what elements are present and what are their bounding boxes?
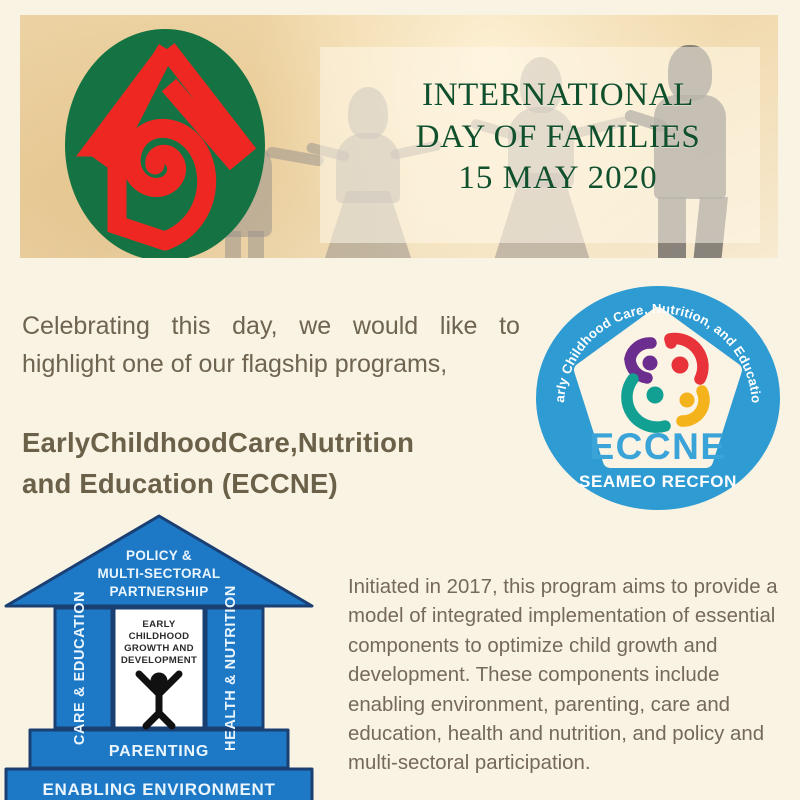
banner-heading-line-3: 15 MAY 2020 [378,158,738,200]
svg-text:GROWTH AND: GROWTH AND [124,643,194,654]
intro-paragraph: Celebratingthisday,wewouldliketo highlig… [22,308,520,383]
house-left-pillar-label: CARE & EDUCATION [72,591,88,745]
program-title-line-1: EarlyChildhoodCare,Nutrition [22,423,527,464]
banner-heading-line-2: DAY OF FAMILIES [378,117,738,159]
eccne-badge: Early Childhood Care, Nutrition, and Edu… [530,281,786,511]
svg-text:EARLY: EARLY [142,619,175,630]
intro-line-2: highlight one of our flagship programs, [22,346,520,384]
svg-text:POLICY &: POLICY & [126,548,192,563]
svg-text:CHILDHOOD: CHILDHOOD [129,631,190,642]
badge-organization: SEAMEO RECFON [579,472,737,491]
svg-text:MULTI-SECTORAL: MULTI-SECTORAL [98,566,221,581]
program-title: EarlyChildhoodCare,Nutrition and Educati… [22,423,527,504]
svg-text:PARTNERSHIP: PARTNERSHIP [109,584,208,599]
program-description: Initiated in 2017, this program aims to … [348,573,788,779]
header-banner: INTERNATIONAL DAY OF FAMILIES 15 MAY 202… [20,15,778,258]
house-step-base-label: ENABLING ENVIRONMENT [42,780,275,799]
banner-heading: INTERNATIONAL DAY OF FAMILIES 15 MAY 202… [378,75,738,200]
badge-acronym: ECCNE [589,426,726,467]
seameo-recfon-logo-icon [65,29,265,258]
eccne-framework-house-diagram: POLICY & MULTI-SECTORAL PARTNERSHIP CARE… [0,508,318,800]
banner-heading-line-1: INTERNATIONAL [378,75,738,117]
intro-line-1: Celebratingthisday,wewouldliketo [22,308,520,346]
program-title-line-2: and Education (ECCNE) [22,464,527,505]
svg-text:DEVELOPMENT: DEVELOPMENT [121,655,197,666]
house-step-parenting-label: PARENTING [109,743,209,760]
house-right-pillar-label: HEALTH & NUTRITION [223,585,239,751]
